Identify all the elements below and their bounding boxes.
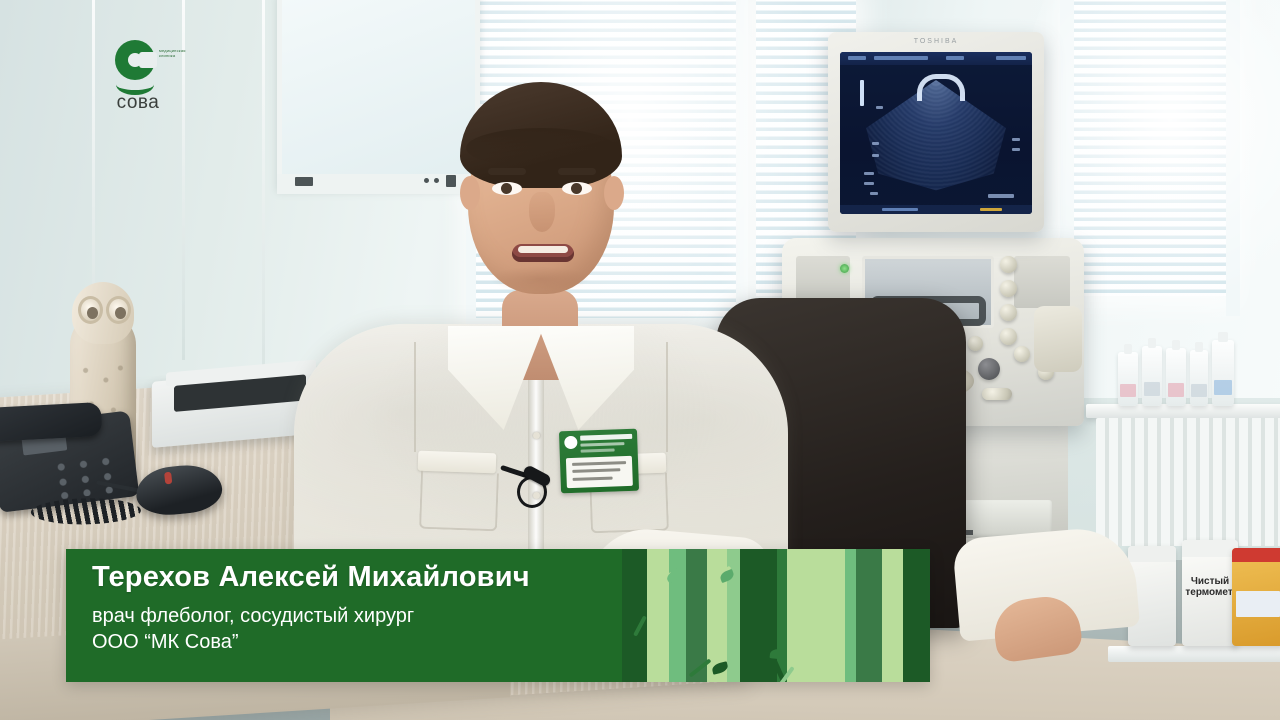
doctor-portrait (330, 80, 750, 600)
stripe-4 (707, 549, 726, 682)
coat-pocket-flap (418, 451, 497, 474)
stripe-2 (669, 549, 686, 682)
control-knob[interactable] (978, 358, 1000, 380)
stripe-12 (903, 549, 930, 682)
hair (460, 82, 622, 188)
ultrasound-monitor: TOSHIBA (828, 32, 1044, 232)
eye-left (492, 182, 522, 195)
badge-subline (580, 442, 624, 447)
person-role: врач флеболог, сосудистый хирург (92, 603, 652, 629)
lower-third-text: Терехов Алексей Михайлович врач флеболог… (92, 561, 652, 655)
eye-right (562, 182, 592, 195)
control-knob[interactable] (1000, 328, 1017, 345)
sharps-container (1232, 548, 1280, 646)
logo-wordmark: сова (98, 92, 178, 114)
mouse-scroll-wheel (164, 472, 172, 485)
scan-status-bar (840, 52, 1032, 65)
radiator-shelf (1086, 404, 1280, 418)
ultrasound-sector-scan (840, 52, 1032, 214)
person-organization: ООО “МК Сова” (92, 629, 652, 655)
depth-ruler (860, 80, 864, 106)
thermometer-jar: Чистый термометр (1182, 540, 1238, 646)
bottle (1212, 340, 1234, 406)
ear-left (460, 176, 480, 210)
window-blinds (1072, 0, 1228, 296)
control-knob[interactable] (1000, 304, 1017, 321)
badge-subline (581, 448, 615, 452)
probe-holder (1034, 306, 1082, 372)
sova-logo: медицинская клиника сова (98, 40, 178, 110)
coat-pocket (419, 471, 499, 532)
stripe-11 (882, 549, 903, 682)
name-badge (559, 429, 639, 494)
bottle (1118, 352, 1138, 406)
whiteboard-control (295, 177, 313, 186)
badge-logo-icon (564, 436, 577, 449)
nose (529, 192, 555, 232)
decorative-stripes (622, 549, 930, 682)
chin-shading (490, 266, 590, 292)
lower-shelf (1108, 646, 1280, 662)
lower-third-banner: Терехов Алексей Михайлович врач флеболог… (66, 549, 930, 682)
control-knob[interactable] (1000, 280, 1017, 297)
bottle (1142, 346, 1162, 406)
control-knob[interactable] (968, 336, 983, 351)
radiator (1096, 418, 1280, 546)
stripe-7 (777, 549, 787, 682)
mouth (512, 244, 574, 262)
thermometer-jar-label: Чистый термометр (1185, 576, 1234, 598)
ear-right (604, 176, 624, 210)
scan-footer-bar (840, 205, 1032, 214)
bottle (1190, 350, 1208, 406)
badge-name-card (566, 456, 633, 488)
stripe-8 (787, 549, 845, 682)
stripe-5 (727, 549, 741, 682)
stripe-9 (845, 549, 857, 682)
stripe-10 (856, 549, 881, 682)
phone-keypad (52, 452, 122, 500)
wall-seam (262, 0, 265, 410)
stripe-3 (686, 549, 707, 682)
person-name: Терехов Алексей Михайлович (92, 561, 652, 594)
power-led (840, 264, 849, 273)
control-knob[interactable] (1000, 256, 1017, 273)
control-knob[interactable] (1014, 346, 1030, 362)
window-frame (1226, 0, 1240, 316)
control-button[interactable] (982, 388, 1012, 400)
monitor-brand-label: TOSHIBA (828, 38, 1044, 45)
video-frame: TOSHIBA (0, 0, 1280, 720)
eyebrow-right (558, 168, 596, 175)
bottle (1166, 348, 1186, 406)
sova-owl-logo-icon: медицинская клиника (115, 40, 161, 86)
eyebrow-left (488, 168, 526, 175)
probe-near-field (917, 74, 965, 101)
desk-phone (0, 387, 151, 524)
badge-brand-line (580, 434, 632, 441)
logo-tagline: медицинская клиника (159, 48, 186, 58)
window-right (1072, 0, 1228, 296)
stripe-6 (740, 549, 777, 682)
phone-handset (0, 402, 102, 442)
